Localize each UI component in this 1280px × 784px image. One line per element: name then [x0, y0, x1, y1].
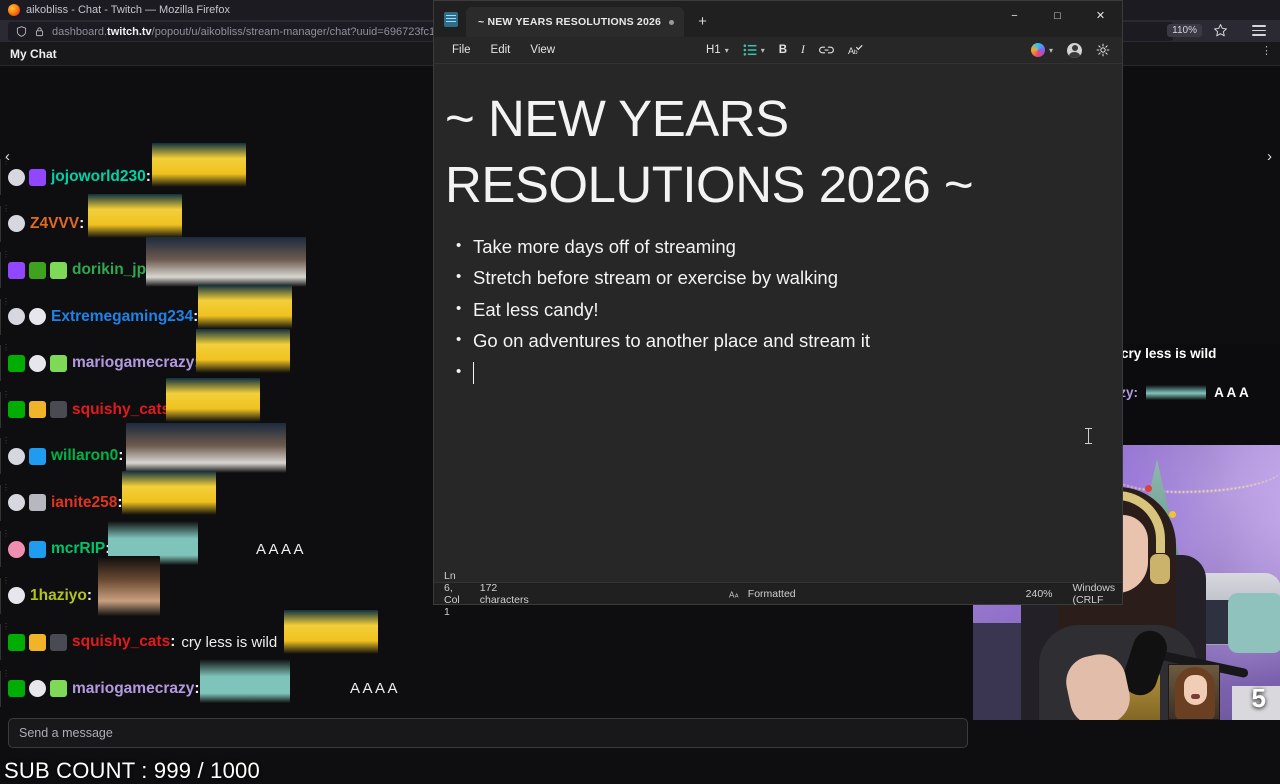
badge-group [8, 308, 46, 325]
chat-message[interactable]: ⋮squishy_cats:cry less is wild [0, 619, 975, 666]
status-line-ending[interactable]: Windows (CRLF [1063, 582, 1126, 606]
chat-colon: : [87, 587, 92, 605]
url-domain: twitch.tv [107, 26, 152, 38]
document-tab-label: ~ NEW YEARS RESOLUTIONS 2026 [478, 16, 661, 28]
chat-username[interactable]: jojoworld230 [51, 168, 146, 186]
chat-emote [198, 285, 292, 329]
document-list-item[interactable]: Take more days off of streaming [473, 231, 1096, 263]
overlay-chat-text: A A A [1214, 385, 1249, 400]
toolbar-right-actions: ▾ [1025, 40, 1116, 61]
notepad-toolbar: File Edit View H1 ▾ ▾ B I [434, 37, 1122, 64]
text-caret [473, 362, 474, 384]
alien-badge [50, 355, 67, 372]
notepad-window: ~ NEW YEARS RESOLUTIONS 2026 + − □ ✕ Fil… [433, 0, 1123, 605]
collapse-right-arrow[interactable]: › [1267, 148, 1272, 165]
badge-group [8, 680, 67, 697]
badge-group [8, 634, 67, 651]
bag-decor [1228, 593, 1280, 653]
format-toolbar: H1 ▾ ▾ B I A b [699, 41, 870, 60]
maximize-button[interactable]: □ [1036, 1, 1079, 30]
chat-username[interactable]: willaron0 [51, 447, 118, 465]
alien-badge [50, 680, 67, 697]
chat-emote [284, 610, 378, 654]
chat-options-kebab[interactable]: ⋮ [1261, 49, 1272, 53]
message-drag-handle[interactable]: ⋮ [0, 485, 3, 521]
svg-text:b: b [854, 48, 858, 55]
status-character-count: 172 characters [470, 582, 539, 606]
mute-badge [50, 634, 67, 651]
chat-message-text: A A A A [350, 680, 398, 697]
message-drag-handle[interactable]: ⋮ [0, 252, 3, 288]
window-controls: − □ ✕ [993, 1, 1122, 30]
badge-group [8, 355, 67, 372]
list-style-dropdown[interactable]: ▾ [736, 41, 772, 59]
badge-group [8, 541, 46, 558]
svg-text:A: A [734, 593, 738, 599]
document-tab[interactable]: ~ NEW YEARS RESOLUTIONS 2026 [466, 7, 684, 37]
gold-badge [29, 634, 46, 651]
chevron-down-icon: ▾ [1049, 46, 1053, 55]
prediction-badge [8, 308, 25, 325]
pink-badge [8, 541, 25, 558]
badge-group [8, 494, 46, 511]
message-drag-handle[interactable]: ⋮ [0, 392, 3, 428]
message-drag-handle[interactable]: ⋮ [0, 206, 3, 242]
url-prefix: dashboard. [52, 26, 107, 38]
chat-colon: : [118, 447, 123, 465]
bulleted-list-icon [743, 44, 757, 56]
status-cursor-position: Ln 6, Col 1 [434, 570, 470, 618]
mod-badge [8, 680, 25, 697]
sub-count-overlay: SUB COUNT : 999 / 1000 [4, 758, 260, 784]
chat-colon: : [79, 215, 84, 233]
message-drag-handle[interactable]: ⋮ [0, 159, 3, 195]
chevron-down-icon: ▾ [761, 46, 765, 55]
chat-emote [152, 143, 246, 187]
bookmark-star-icon[interactable] [1213, 23, 1228, 38]
chat-colon: : [194, 680, 199, 698]
chat-emote [126, 423, 286, 473]
copilot-button[interactable]: ▾ [1025, 40, 1059, 60]
chat-input-placeholder: Send a message [19, 726, 113, 740]
chat-message-text: A A A A [256, 541, 304, 558]
document-editor[interactable]: ~ NEW YEARS RESOLUTIONS 2026 ~ Take more… [434, 64, 1122, 582]
badge-group [8, 401, 67, 418]
zoom-level-badge[interactable]: 110% [1167, 24, 1202, 37]
chat-input[interactable]: Send a message [8, 718, 968, 748]
document-list-item[interactable]: Eat less candy! [473, 294, 1096, 326]
lock-icon [34, 26, 45, 37]
account-button[interactable] [1061, 40, 1088, 61]
chat-emote [146, 237, 306, 287]
menu-bar: File Edit View [442, 41, 565, 59]
overlay-chat-text: cry less is wild [1121, 346, 1216, 361]
prediction-badge [8, 448, 25, 465]
chat-username[interactable]: mariogamecrazy [72, 354, 194, 372]
chat-username[interactable]: 1haziyo [30, 587, 87, 605]
unsaved-changes-dot [669, 20, 674, 25]
document-list-item-empty[interactable] [473, 357, 1096, 389]
chat-username[interactable]: dorikin_jp [72, 261, 146, 279]
mod-badge [8, 634, 25, 651]
gray-badge [8, 587, 25, 604]
badge-group [8, 215, 25, 232]
gray-badge [29, 355, 46, 372]
close-button[interactable]: ✕ [1079, 1, 1122, 30]
gear-icon [1096, 43, 1110, 57]
blue-badge [29, 541, 46, 558]
chat-emote [122, 471, 216, 515]
italic-button[interactable]: I [794, 41, 812, 59]
chat-emote [88, 194, 182, 238]
prediction-badge [8, 169, 25, 186]
chat-emote [166, 378, 260, 422]
chat-emote [200, 659, 290, 703]
gray-badge [29, 308, 46, 325]
chat-emote [196, 329, 290, 373]
minimize-button[interactable]: − [993, 1, 1036, 30]
chat-username[interactable]: squishy_cats [72, 633, 170, 651]
chat-username[interactable]: ianite258 [51, 494, 117, 512]
sword-badge [29, 494, 46, 511]
green-badge [29, 262, 46, 279]
link-icon [819, 44, 834, 56]
prediction-badge [8, 215, 25, 232]
purple-badge [8, 262, 25, 279]
font-format-icon: A A [729, 589, 742, 599]
settings-button[interactable] [1090, 40, 1116, 60]
message-drag-handle[interactable]: ⋮ [0, 671, 3, 707]
sub-badge [29, 169, 46, 186]
new-tab-button[interactable]: + [698, 13, 707, 30]
menu-view[interactable]: View [520, 41, 565, 59]
heading-style-value: H1 [706, 44, 721, 56]
alien-badge [50, 262, 67, 279]
spellcheck-icon: A b [848, 44, 863, 57]
status-format[interactable]: A A Formatted [719, 588, 806, 600]
mute-badge [50, 401, 67, 418]
blue-badge [29, 448, 46, 465]
page-title: My Chat [10, 47, 57, 61]
document-bullet-list[interactable]: Take more days off of streamingStretch b… [445, 231, 1096, 389]
message-drag-handle[interactable]: ⋮ [0, 624, 3, 660]
insert-link-button[interactable] [812, 41, 841, 59]
notepad-tabstrip: ~ NEW YEARS RESOLUTIONS 2026 + − □ ✕ [434, 1, 1122, 37]
heading-style-dropdown[interactable]: H1 ▾ [699, 41, 736, 59]
badge-group [8, 262, 67, 279]
mouse-ibeam-cursor [1088, 428, 1089, 444]
bold-button[interactable]: B [772, 41, 794, 59]
overlay-chat-emote [1146, 385, 1206, 400]
hamburger-menu-icon[interactable] [1252, 25, 1266, 39]
message-drag-handle[interactable]: ⋮ [0, 438, 3, 474]
mod-badge [8, 355, 25, 372]
chat-message[interactable]: ⋮mariogamecrazy:A A A A [0, 666, 975, 713]
chat-message-text: cry less is wild [181, 634, 277, 651]
badge-group [8, 587, 25, 604]
account-avatar-icon [1067, 43, 1082, 58]
gold-badge [29, 401, 46, 418]
gray-badge [29, 680, 46, 697]
window-title: aikobliss - Chat - Twitch — Mozilla Fire… [26, 4, 230, 16]
status-format-label: Formatted [748, 588, 796, 600]
mod-badge [8, 401, 25, 418]
message-drag-handle[interactable]: ⋮ [0, 345, 3, 381]
message-drag-handle[interactable]: ⋮ [0, 578, 3, 614]
counter-overlay: 5 [1252, 683, 1266, 714]
document-list-item[interactable]: Go on adventures to another place and st… [473, 325, 1096, 357]
chevron-down-icon: ▾ [725, 46, 729, 55]
message-drag-handle[interactable]: ⋮ [0, 299, 3, 335]
document-list-item[interactable]: Stretch before stream or exercise by wal… [473, 262, 1096, 294]
status-bar: Ln 6, Col 1 172 characters A A Formatted… [434, 582, 1122, 604]
chat-colon: : [146, 168, 151, 186]
badge-group [8, 448, 46, 465]
badge-group [8, 169, 46, 186]
message-drag-handle[interactable]: ⋮ [0, 531, 3, 567]
notepad-app-icon [444, 12, 458, 27]
shield-icon [16, 26, 27, 37]
copilot-icon [1031, 43, 1045, 57]
firefox-logo-icon [8, 4, 20, 16]
spellcheck-button[interactable]: A b [841, 41, 870, 60]
picture-in-picture-cam [1168, 664, 1220, 720]
prediction-badge [8, 494, 25, 511]
chat-username[interactable]: mariogamecrazy [72, 680, 194, 698]
chat-username[interactable]: Z4VVV [30, 215, 79, 233]
chat-emote [98, 556, 160, 616]
document-heading: ~ NEW YEARS RESOLUTIONS 2026 ~ [445, 86, 1096, 219]
chat-username[interactable]: squishy_cats [72, 401, 170, 419]
menu-edit[interactable]: Edit [481, 41, 521, 59]
status-zoom[interactable]: 240% [1016, 588, 1063, 600]
chat-colon: : [170, 633, 175, 651]
chat-username[interactable]: Extremegaming234 [51, 308, 193, 326]
menu-file[interactable]: File [442, 41, 481, 59]
